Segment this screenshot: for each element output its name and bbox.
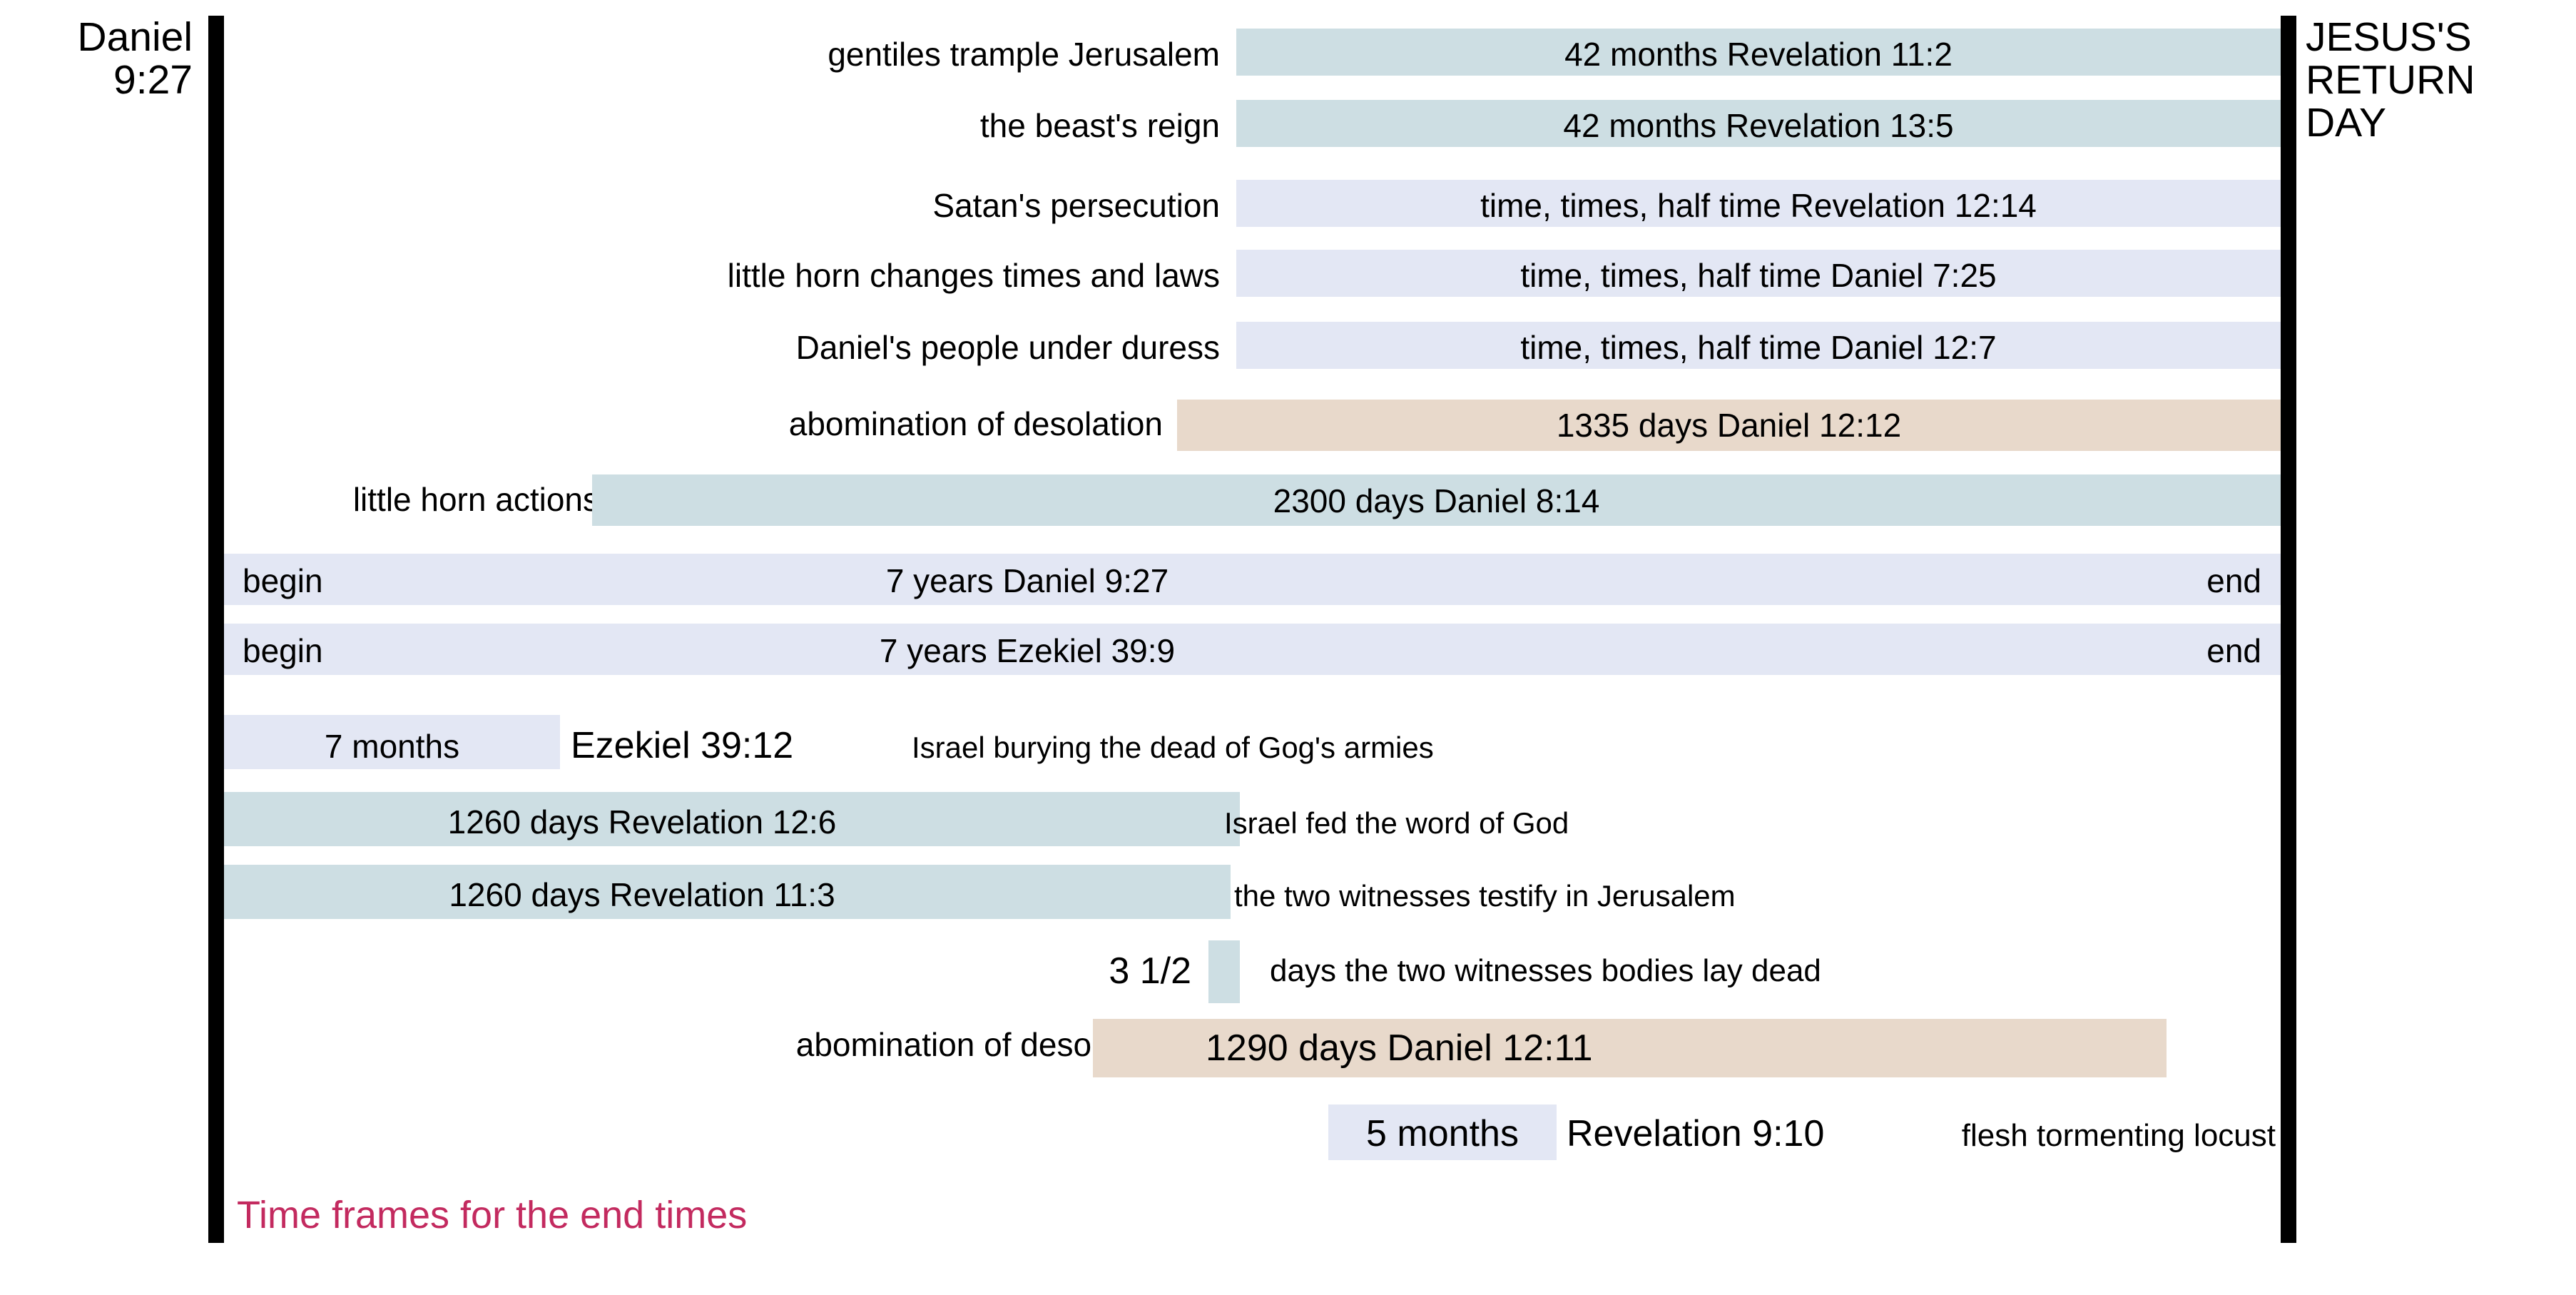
row-label-satans-persecution: Satan's persecution <box>442 188 1220 223</box>
row-label-daniels-people-under-duress: Daniel's people under duress <box>442 330 1220 365</box>
row-label-abomination-of-desolation-1290: abomination of desolation <box>414 1027 1170 1062</box>
row-note-1260-days-revelation-12-6: Israel fed the word of God <box>1224 808 2152 839</box>
bar-text-gentiles-trample-jerusalem: 42 months Revelation 11:2 <box>1236 37 2281 71</box>
bar-text-the-beasts-reign: 42 months Revelation 13:5 <box>1236 108 2281 143</box>
row-label-gentiles-trample-jerusalem: gentiles trample Jerusalem <box>442 37 1220 71</box>
row-label-the-beasts-reign: the beast's reign <box>442 108 1220 143</box>
bar-three-and-a-half-days <box>1208 940 1240 1003</box>
row-label-little-horn-actions: little horn actions <box>178 482 599 517</box>
timeline-start-label: Daniel 9:27 <box>0 16 200 101</box>
bar-text-abomination-of-desolation-1290: 1290 days Daniel 12:11 <box>1206 1029 2062 1068</box>
bar-text-1260-days-revelation-12-6: 1260 days Revelation 12:6 <box>243 805 1042 839</box>
row-note-five-months-revelation-9-10: flesh tormenting locust <box>1741 1117 2276 1154</box>
bar-end-label-seven-years-daniel: end <box>1990 564 2261 598</box>
bar-begin-label-seven-years-daniel: begin <box>243 564 457 598</box>
timeline-end-axis <box>2281 16 2296 1243</box>
bar-text-five-months-revelation-9-10: 5 months <box>1328 1114 1557 1154</box>
timeline-end-label: JESUS'S RETURN DAY <box>2306 16 2576 144</box>
bar-begin-label-seven-years-ezekiel: begin <box>243 634 457 668</box>
bar-text-1260-days-revelation-11-3: 1260 days Revelation 11:3 <box>243 878 1042 912</box>
bar-text-seven-months-ezekiel: 7 months <box>224 729 560 763</box>
bar-text-seven-years-ezekiel: 7 years Ezekiel 39:9 <box>535 634 1519 668</box>
row-label-three-and-a-half-days: 3 1/2 <box>892 952 1191 991</box>
row-label-little-horn-changes-times-and-laws: little horn changes times and laws <box>399 258 1220 293</box>
timeline-start-axis <box>208 16 224 1243</box>
row-note-seven-months-ezekiel: Israel burying the dead of Gog's armies <box>912 732 1839 763</box>
bar-text-abomination-of-desolation-1335: 1335 days Daniel 12:12 <box>1177 408 2281 442</box>
bar-text-seven-years-daniel: 7 years Daniel 9:27 <box>535 564 1519 598</box>
diagram-title: Time frames for the end times <box>237 1193 747 1237</box>
bar-end-label-seven-years-ezekiel: end <box>1990 634 2261 668</box>
end-times-timeline-diagram: Daniel 9:27 JESUS'S RETURN DAY gentiles … <box>0 0 2576 1295</box>
bar-text-daniels-people-under-duress: time, times, half time Daniel 12:7 <box>1236 330 2281 365</box>
bar-text-little-horn-actions: 2300 days Daniel 8:14 <box>592 484 2281 518</box>
row-reference-seven-months-ezekiel: Ezekiel 39:12 <box>571 726 970 766</box>
bar-text-little-horn-changes-times-and-laws: time, times, half time Daniel 7:25 <box>1236 258 2281 293</box>
row-note-1260-days-revelation-11-3: the two witnesses testify in Jerusalem <box>1234 880 2233 912</box>
bar-text-satans-persecution: time, times, half time Revelation 12:14 <box>1236 188 2281 223</box>
row-label-abomination-of-desolation-1335: abomination of desolation <box>399 407 1163 441</box>
row-note-three-and-a-half-days: days the two witnesses bodies lay dead <box>1270 955 2269 987</box>
